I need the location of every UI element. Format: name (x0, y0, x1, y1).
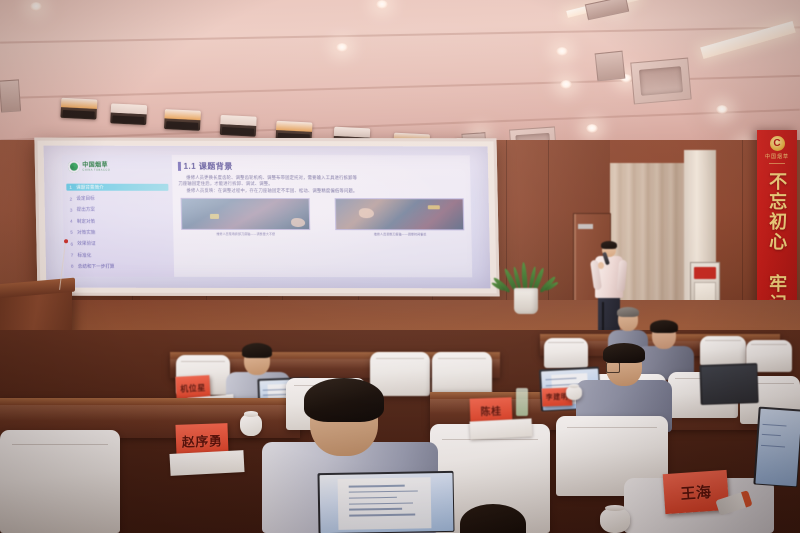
projection-surface: 中国烟草 CHINA TOBACCO 1 课题背景简介 2 设定目标 (44, 146, 491, 289)
laptop[interactable] (699, 363, 758, 405)
microphone-head-icon (63, 239, 67, 243)
slide-picture-caption: 维修人员现场拆卸刀座轴——调整量大不便 (181, 232, 310, 236)
presentation-slide: 中国烟草 CHINA TOBACCO 1 课题背景简介 2 设定目标 (61, 154, 472, 277)
slide-title-row: 1.1 课题背景 (178, 160, 465, 171)
person-hair (460, 504, 526, 533)
title-accent-bar (178, 161, 181, 170)
chair-cover (0, 430, 120, 533)
ceiling-vent (595, 51, 626, 82)
ac-grille (639, 66, 684, 95)
slide-nav-label: 提出方案 (77, 207, 96, 213)
tea-cup (566, 386, 582, 400)
slide-nav-item-8: 8 总结和下一步打算 (68, 263, 170, 270)
slide-logo: 中国烟草 CHINA TOBACCO (61, 154, 172, 180)
ceiling-vent (585, 0, 629, 20)
person-hair (617, 307, 639, 317)
projection-screen: 中国烟草 CHINA TOBACCO 1 课题背景简介 2 设定目标 (34, 138, 499, 297)
ceiling-spotlight (220, 115, 257, 137)
ceiling-ac-unit (630, 58, 691, 105)
slide-nav-item-7: 7 标准化 (67, 252, 169, 259)
person-hair (603, 343, 645, 363)
slide-photo-machinery-b (335, 199, 465, 231)
slide-nav-item-6: 6 效果验证 (67, 240, 169, 247)
slide-content: 1.1 课题背景 维修人员更换长度齿轮、调整齿轮机构、调整布带固定托对，需要输入… (172, 154, 473, 277)
slide-photo-machinery-a (181, 198, 311, 230)
plant-pot (514, 288, 538, 314)
china-tobacco-logo-icon (68, 161, 80, 173)
slide-brand-sub: CHINA TOBACCO (82, 169, 110, 172)
tea-cup (240, 414, 262, 436)
banner-logo-icon: C (770, 136, 785, 151)
ceiling-spotlight (110, 103, 147, 125)
slide-picture-1: 维修人员现场拆卸刀座轴——调整量大不便 (181, 198, 311, 236)
presenter-hand (598, 262, 604, 269)
slide-title: 1.1 课题背景 (183, 160, 233, 171)
glasses-icon (606, 362, 620, 373)
slide-nav-label: 设定目标 (76, 196, 95, 202)
door-sign (578, 224, 593, 229)
slide-nav-label: 课题背景简介 (76, 184, 104, 190)
chair-cover (432, 352, 492, 396)
laptop[interactable] (753, 407, 800, 488)
slide-nav-label: 制定对策 (77, 218, 96, 224)
slide-nav-label: 标准化 (77, 252, 91, 258)
ceiling-spotlight (164, 109, 201, 131)
laptop-front[interactable] (317, 471, 454, 533)
slide-nav-list: 1 课题背景简介 2 设定目标 3 提出方案 4 (62, 180, 174, 277)
conference-room-photo: 中国烟草 CHINA TOBACCO 1 课题背景简介 2 设定目标 (0, 0, 800, 533)
slide-nav-label: 效果验证 (77, 241, 96, 247)
slide-body: 维修人员更换长度齿轮、调整齿轮机构、调整布带固定托对，需要输入工具进行拆卸等 刀… (178, 174, 466, 194)
person-hair (650, 320, 678, 333)
drinking-glass (516, 388, 528, 416)
ceiling-downlight (336, 43, 348, 52)
notice-board-header (694, 267, 716, 279)
potted-plant (503, 248, 549, 314)
ceiling (0, 0, 800, 152)
banner-brand: 中国烟草 (765, 153, 789, 160)
slide-nav-item-2: 2 设定目标 (66, 195, 168, 202)
paper-sheet (470, 418, 533, 439)
ceiling-vent (0, 79, 21, 112)
ceiling-downlight (716, 105, 728, 114)
slide-nav-label: 对策实施 (77, 230, 96, 236)
person-hair (304, 378, 384, 422)
ceiling-downlight (30, 2, 42, 11)
person-hair (242, 343, 272, 358)
slide-nav-label: 总结和下一步打算 (78, 264, 115, 270)
ceiling-seam (0, 26, 800, 43)
paper-sheet (169, 450, 244, 476)
presenter-arm-right (617, 260, 628, 293)
slide-picture-2: 维修人员调整刀座轴——调整时间偏长 (335, 199, 465, 237)
ceiling-downlight (560, 80, 572, 89)
chair-cover (700, 336, 746, 366)
slide-sidebar: 中国烟草 CHINA TOBACCO 1 课题背景简介 2 设定目标 (61, 154, 174, 276)
slide-nav-item-4: 4 制定对策 (67, 218, 169, 225)
ceiling-downlight (376, 0, 388, 9)
slide-nav-item-5: 5 对策实施 (67, 229, 169, 236)
tea-cup (600, 508, 630, 533)
slide-nav-item-3: 3 提出方案 (66, 207, 168, 214)
slide-nav-item-1: 1 课题背景简介 (66, 184, 168, 191)
ceiling-spotlight (60, 98, 97, 120)
ceiling-downlight (556, 47, 568, 56)
slide-brand-name: 中国烟草 (82, 163, 110, 169)
slide-picture-row: 维修人员现场拆卸刀座轴——调整量大不便 维修人员调整刀座轴——调整时间偏长 (179, 198, 467, 236)
slide-body-line: 维修人员反映：在调整过程中，存在刀座轴固定不牢固、松动、调整精度偏低等问题。 (178, 188, 465, 195)
slide-picture-caption: 维修人员调整刀座轴——调整时间偏长 (336, 232, 465, 236)
